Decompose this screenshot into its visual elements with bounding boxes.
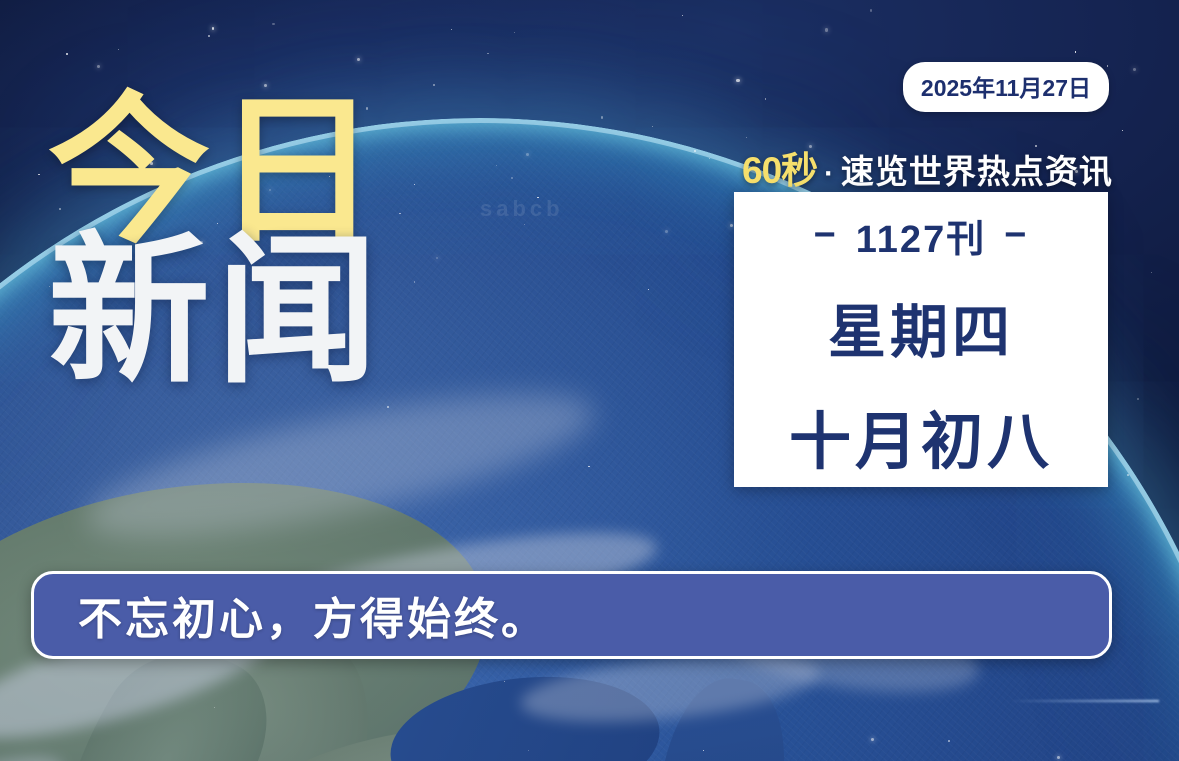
issue-number: 1127刊 xyxy=(856,208,986,263)
issue-dash-right: − xyxy=(1004,214,1028,257)
light-streak xyxy=(1009,700,1159,702)
tagline: 60秒 · 速览世界热点资讯 xyxy=(742,140,1113,194)
tagline-description: 速览世界热点资讯 xyxy=(841,145,1113,193)
watermark: sabcb xyxy=(480,196,564,222)
issue-dash-left: − xyxy=(814,214,838,257)
date-badge: 2025年11月27日 xyxy=(903,62,1109,112)
quote-banner: 不忘初心，方得始终。 xyxy=(31,571,1112,659)
poster-canvas: sabcb 今日 新闻 2025年11月27日 60秒 · 速览世界热点资讯 −… xyxy=(0,0,1179,761)
quote-text: 不忘初心，方得始终。 xyxy=(78,583,548,647)
issue-row: − 1127刊 − xyxy=(814,208,1029,263)
title-line-2: 新闻 xyxy=(48,236,468,390)
tagline-separator: · xyxy=(824,158,834,191)
tagline-seconds: 60秒 xyxy=(742,140,817,194)
poster-title: 今日 新闻 xyxy=(48,96,468,390)
date-info-card: − 1127刊 − 星期四 十月初八 xyxy=(734,192,1108,487)
weekday-label: 星期四 xyxy=(828,285,1014,369)
lunar-date-label: 十月初八 xyxy=(789,391,1053,481)
